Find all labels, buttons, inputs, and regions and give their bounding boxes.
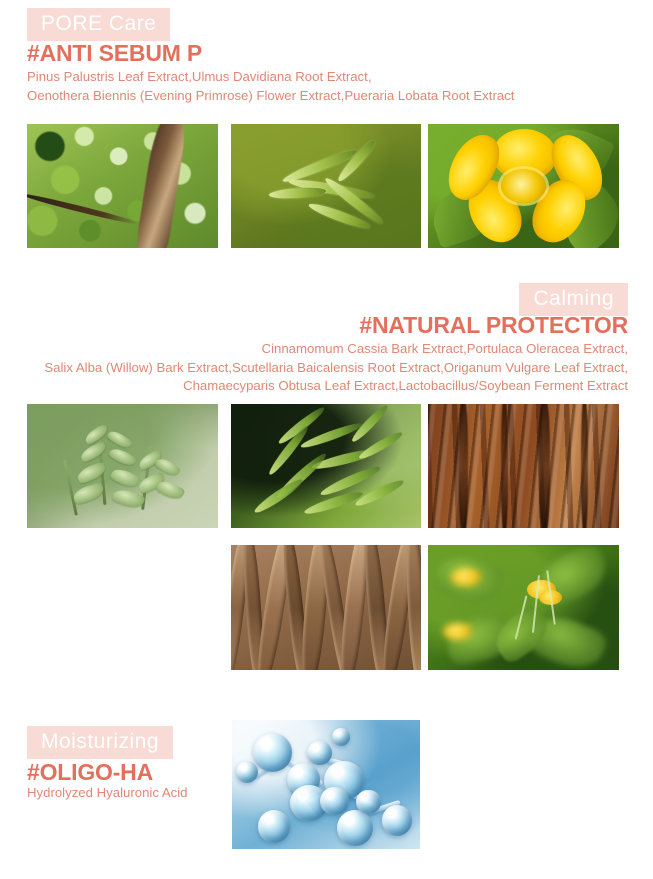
ingredient-line: Cinnamomum Cassia Bark Extract,Portulaca… xyxy=(44,340,628,359)
ingredients-calming: Cinnamomum Cassia Bark Extract,Portulaca… xyxy=(44,340,628,396)
molecule-atom-shape xyxy=(236,761,259,783)
yellow-flower-photo xyxy=(428,124,619,248)
pine-needles-photo xyxy=(231,124,421,248)
tree-canopy-photo xyxy=(27,124,218,248)
molecule-atom-shape xyxy=(307,741,331,766)
ingredients-pore-care: Pinus Palustris Leaf Extract,Ulmus David… xyxy=(27,68,514,105)
molecule-atom-shape xyxy=(258,810,290,842)
leaf-shape xyxy=(79,441,108,464)
leaf-shape xyxy=(108,445,137,469)
leaf-shape xyxy=(155,478,185,503)
badge-moisturizing-wrapper: Moisturizing xyxy=(27,726,173,759)
ingredient-line: Oenothera Biennis (Evening Primrose) Flo… xyxy=(27,87,514,106)
molecule-atom-shape xyxy=(356,790,380,815)
tree-branch-shape xyxy=(27,191,140,226)
headline-anti-sebum-p: #ANTI SEBUM P xyxy=(27,41,202,67)
bark-crack-shape xyxy=(501,404,509,528)
leaf-shape xyxy=(71,482,104,505)
celandine-flower-photo xyxy=(428,545,619,670)
headline-natural-protector: #NATURAL PROTECTOR xyxy=(359,313,628,339)
infographic-page: PORE Care #ANTI SEBUM P Pinus Palustris … xyxy=(0,0,653,879)
water-molecule-photo xyxy=(232,720,420,849)
molecule-atom-shape xyxy=(320,787,348,815)
badge-moisturizing: Moisturizing xyxy=(27,726,173,759)
leaf-shape xyxy=(109,465,141,490)
flower-bloom-shape xyxy=(443,623,472,641)
dried-roots-photo xyxy=(231,545,421,670)
tree-trunk-shape xyxy=(134,124,189,248)
headline-oligo-ha: #OLIGO-HA xyxy=(27,760,153,786)
leaf-shape xyxy=(83,423,110,445)
ingredient-line: Pinus Palustris Leaf Extract,Ulmus David… xyxy=(27,68,514,87)
stem-shape xyxy=(63,459,78,515)
bark-crack-shape xyxy=(539,404,550,528)
pine-needle-shape xyxy=(269,186,327,200)
cypress-foliage-photo xyxy=(231,404,421,528)
ingredient-line: Chamaecyparis Obtusa Leaf Extract,Lactob… xyxy=(44,377,628,396)
molecule-atom-shape xyxy=(382,805,412,836)
frond-shape xyxy=(252,476,305,516)
molecule-atom-shape xyxy=(337,810,373,846)
molecule-atom-shape xyxy=(332,728,351,746)
bark-crack-shape xyxy=(459,404,469,528)
ingredient-line: Salix Alba (Willow) Bark Extract,Scutell… xyxy=(44,359,628,378)
badge-pore-care: PORE Care xyxy=(27,8,170,41)
badge-pore-care-wrapper: PORE Care xyxy=(27,8,170,41)
leaf-shape xyxy=(106,428,133,451)
oregano-sprig-photo xyxy=(27,404,218,528)
molecule-atom-shape xyxy=(253,733,292,772)
subtitle-hydrolyzed-hyaluronic-acid: Hydrolyzed Hyaluronic Acid xyxy=(27,784,188,801)
tree-bark-photo xyxy=(428,404,619,528)
bark-crack-shape xyxy=(581,404,589,528)
